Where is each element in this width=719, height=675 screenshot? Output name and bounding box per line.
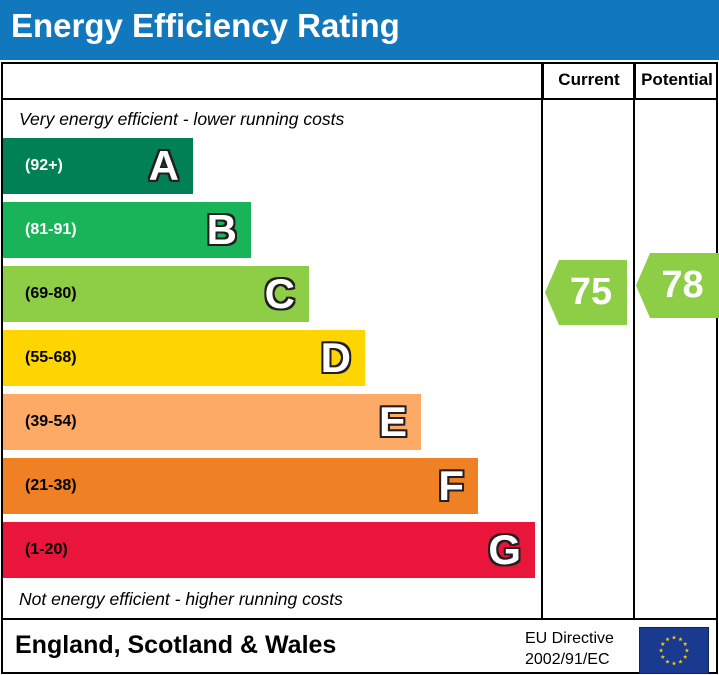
band-f: (21-38)F — [3, 458, 478, 514]
directive-line-2: 2002/91/EC — [525, 649, 614, 670]
chart-title-bar: Energy Efficiency Rating — [0, 0, 719, 60]
band-letter-g: G — [488, 529, 521, 571]
band-a: (92+)A — [3, 138, 193, 194]
band-b: (81-91)B — [3, 202, 251, 258]
band-letter-c: C — [265, 273, 295, 315]
bands-area: Very energy efficient - lower running co… — [3, 100, 541, 618]
band-c: (69-80)C — [3, 266, 309, 322]
band-letter-b: B — [207, 209, 237, 251]
chart-footer: England, Scotland & Wales EU Directive 2… — [1, 618, 718, 674]
band-letter-e: E — [379, 401, 407, 443]
eu-flag-icon — [639, 627, 709, 674]
band-range-f: (21-38) — [25, 477, 77, 495]
band-range-e: (39-54) — [25, 413, 77, 431]
directive-line-1: EU Directive — [525, 628, 614, 649]
band-range-d: (55-68) — [25, 349, 77, 367]
page-title: Energy Efficiency Rating — [11, 7, 400, 45]
energy-efficiency-rating-chart: Energy Efficiency Rating Current Potenti… — [0, 0, 719, 675]
band-e: (39-54)E — [3, 394, 421, 450]
caption-not-efficient: Not energy efficient - higher running co… — [19, 589, 343, 610]
footer-region-label: England, Scotland & Wales — [15, 631, 336, 660]
column-header-potential: Potential — [634, 62, 718, 98]
band-range-g: (1-20) — [25, 541, 68, 559]
band-g: (1-20)G — [3, 522, 535, 578]
band-d: (55-68)D — [3, 330, 365, 386]
column-header-current: Current — [542, 62, 634, 98]
band-range-c: (69-80) — [25, 285, 77, 303]
band-letter-a: A — [149, 145, 179, 187]
eu-stars-icon — [640, 628, 708, 673]
column-divider-current — [541, 62, 543, 618]
band-range-a: (92+) — [25, 157, 63, 175]
band-letter-f: F — [438, 465, 464, 507]
rating-arrow-current: 75 — [545, 260, 627, 325]
rating-arrow-potential: 78 — [636, 253, 719, 318]
band-range-b: (81-91) — [25, 221, 77, 239]
footer-directive: EU Directive 2002/91/EC — [525, 628, 614, 670]
caption-very-efficient: Very energy efficient - lower running co… — [19, 109, 344, 130]
column-divider-potential — [633, 62, 635, 618]
band-letter-d: D — [321, 337, 351, 379]
column-header-row: Current Potential — [1, 62, 718, 100]
